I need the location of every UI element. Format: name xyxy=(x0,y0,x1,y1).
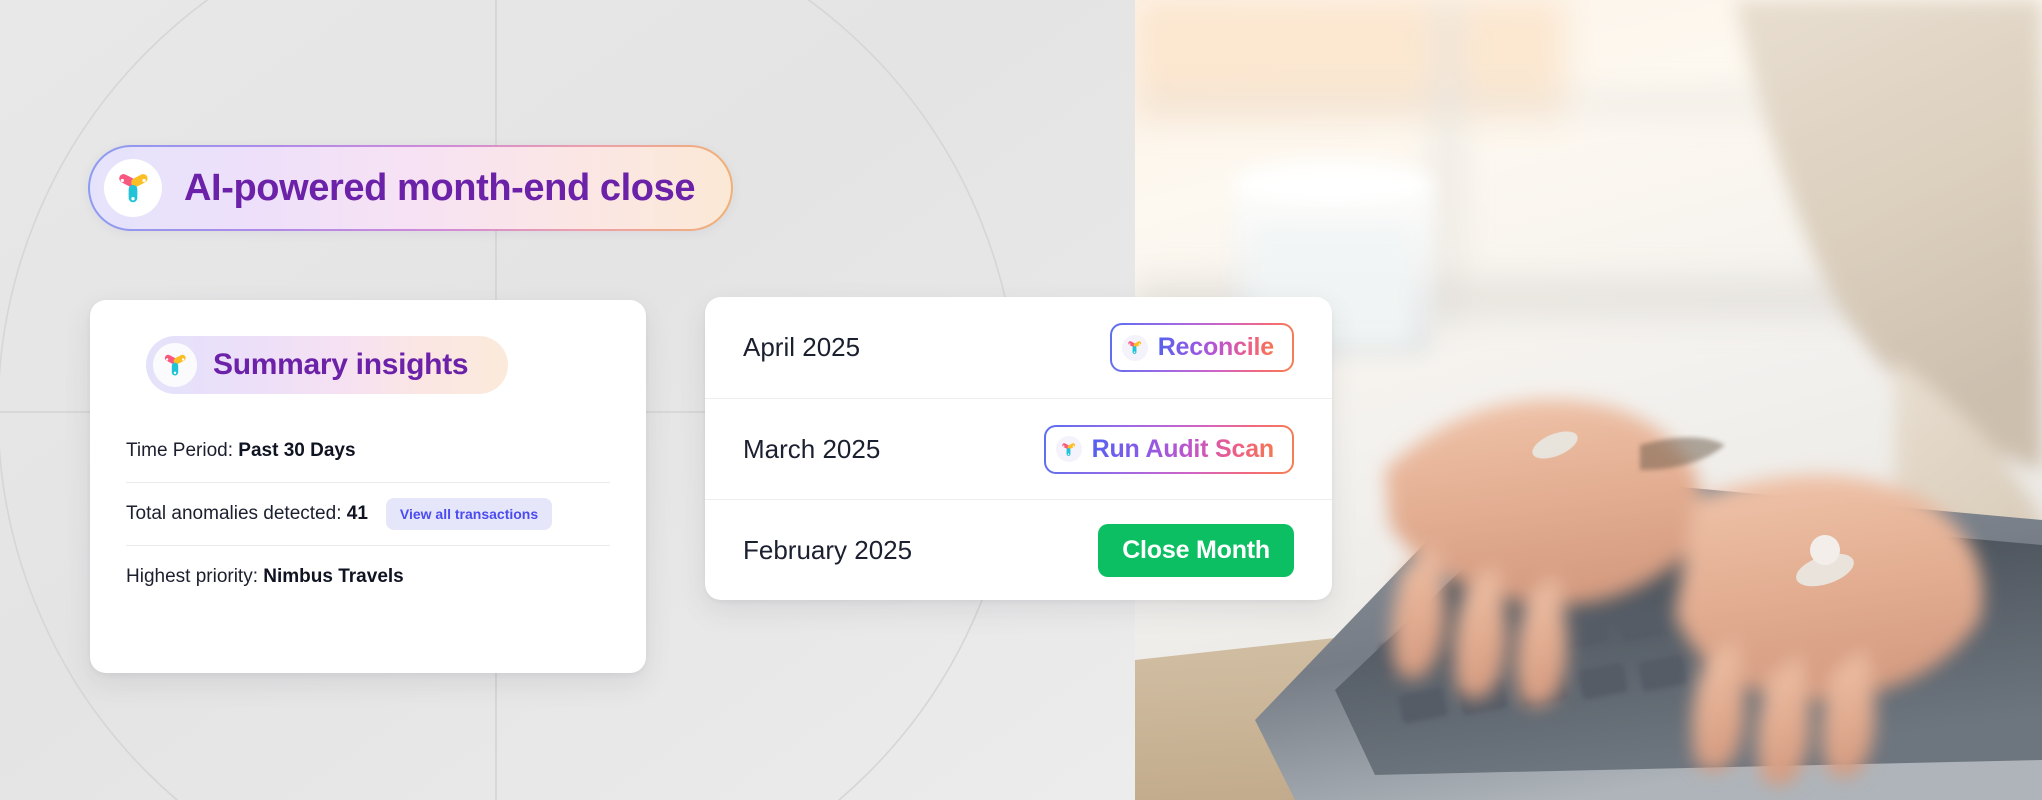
summary-rows: Time Period: Past 30 Days Total anomalie… xyxy=(126,420,610,608)
tri-arm-logo-icon xyxy=(153,343,197,387)
summary-insights-title: Summary insights xyxy=(213,348,468,382)
reconcile-button[interactable]: Reconcile xyxy=(1110,323,1294,372)
tri-arm-logo-icon xyxy=(1056,436,1082,462)
month-actions-card: April 2025 Reconcile xyxy=(705,297,1332,600)
ai-banner-pill: AI-powered month-end close xyxy=(88,145,733,231)
tri-arm-logo-icon xyxy=(104,159,162,217)
highest-priority-text: Highest priority: Nimbus Travels xyxy=(126,566,404,588)
view-all-transactions-button[interactable]: View all transactions xyxy=(386,498,552,530)
summary-insights-header: Summary insights xyxy=(146,336,508,394)
banner-title: AI-powered month-end close xyxy=(184,167,695,210)
anomalies-text: Total anomalies detected: 41 xyxy=(126,503,368,525)
month-label-february: February 2025 xyxy=(743,535,912,566)
month-row-march: March 2025 Run Audit Scan xyxy=(705,398,1332,499)
month-label-march: March 2025 xyxy=(743,434,880,465)
close-month-button[interactable]: Close Month xyxy=(1098,524,1294,577)
summary-row-highest-priority: Highest priority: Nimbus Travels xyxy=(126,545,610,608)
highest-priority-value: Nimbus Travels xyxy=(263,566,403,587)
time-period-label: Time Period: xyxy=(126,440,238,461)
anomalies-label: Total anomalies detected: xyxy=(126,503,347,524)
anomalies-value: 41 xyxy=(347,503,368,524)
summary-row-anomalies: Total anomalies detected: 41 View all tr… xyxy=(126,482,610,545)
run-audit-scan-button[interactable]: Run Audit Scan xyxy=(1044,425,1294,474)
reconcile-button-label: Reconcile xyxy=(1158,333,1274,362)
time-period-text: Time Period: Past 30 Days xyxy=(126,440,356,462)
highest-priority-label: Highest priority: xyxy=(126,566,263,587)
month-label-april: April 2025 xyxy=(743,332,860,363)
run-audit-scan-button-label: Run Audit Scan xyxy=(1092,435,1274,464)
time-period-value: Past 30 Days xyxy=(238,440,355,461)
tri-arm-logo-icon xyxy=(1122,335,1148,361)
screenshot-root: AI-powered month-end close Summary insig… xyxy=(0,0,2042,800)
month-row-february: February 2025 Close Month xyxy=(705,499,1332,600)
summary-insights-card: Summary insights Time Period: Past 30 Da… xyxy=(90,300,646,673)
month-row-april: April 2025 Reconcile xyxy=(705,297,1332,398)
summary-row-time-period: Time Period: Past 30 Days xyxy=(126,420,610,482)
